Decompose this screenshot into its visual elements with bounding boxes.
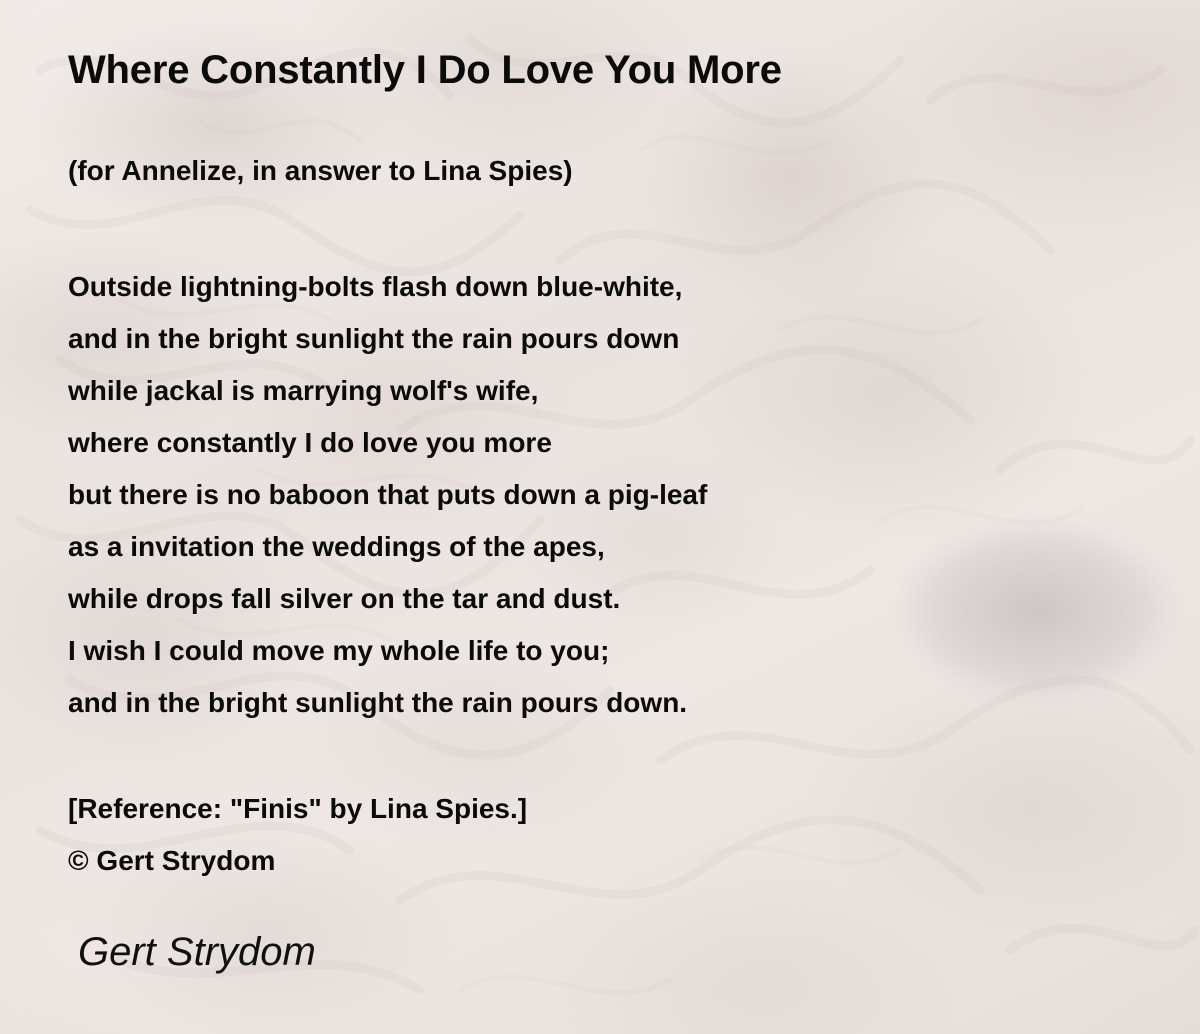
poem-title: Where Constantly I Do Love You More bbox=[68, 50, 782, 90]
poem-footer: [Reference: "Finis" by Lina Spies.] © Ge… bbox=[68, 783, 527, 887]
poem-line: where constantly I do love you more bbox=[68, 417, 1128, 469]
poem-copyright: © Gert Strydom bbox=[68, 835, 527, 887]
poem-line: and in the bright sunlight the rain pour… bbox=[68, 677, 1128, 729]
poem-line: while jackal is marrying wolf's wife, bbox=[68, 365, 1128, 417]
poem-line: while drops fall silver on the tar and d… bbox=[68, 573, 1128, 625]
poem-body: Outside lightning-bolts flash down blue-… bbox=[68, 261, 1128, 729]
poem-page: Where Constantly I Do Love You More (for… bbox=[0, 0, 1200, 1034]
poem-content: Where Constantly I Do Love You More (for… bbox=[0, 0, 1200, 1034]
poem-line: and in the bright sunlight the rain pour… bbox=[68, 313, 1128, 365]
poem-line: Outside lightning-bolts flash down blue-… bbox=[68, 261, 1128, 313]
poem-line: as a invitation the weddings of the apes… bbox=[68, 521, 1128, 573]
poem-line: I wish I could move my whole life to you… bbox=[68, 625, 1128, 677]
poem-reference-note: [Reference: "Finis" by Lina Spies.] bbox=[68, 783, 527, 835]
poem-dedication: (for Annelize, in answer to Lina Spies) bbox=[68, 157, 573, 185]
poem-author-signature: Gert Strydom bbox=[78, 932, 316, 972]
poem-line: but there is no baboon that puts down a … bbox=[68, 469, 1128, 521]
